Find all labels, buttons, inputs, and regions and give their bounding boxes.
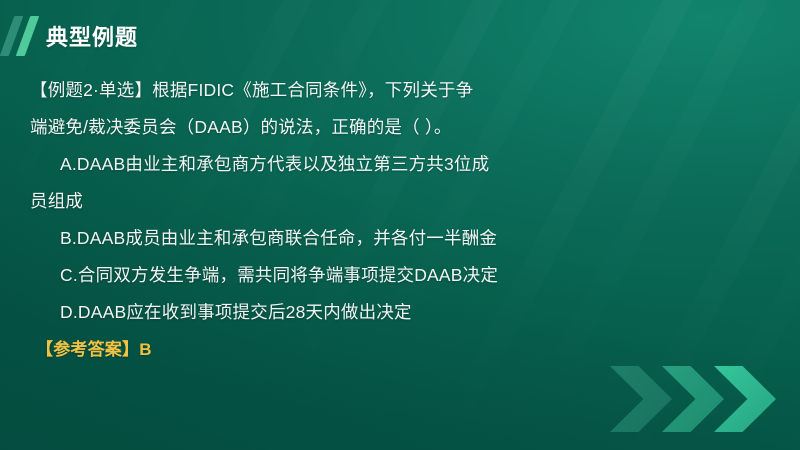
option-a-line-1[interactable]: A.DAAB由业主和承包商方代表以及独立第三方共3位成 [30,146,610,183]
double-slash-icon [4,16,42,56]
chevron-decoration [610,362,786,436]
slide-root: 典型例题 【例题2·单选】根据FIDIC《施工合同条件》，下列关于争 端避免/裁… [0,0,800,450]
question-line-2: 端避免/裁决委员会（DAAB）的说法，正确的是（ ）。 [30,109,610,146]
page-title: 典型例题 [46,20,138,52]
slide-header: 典型例题 [0,16,138,56]
question-line-1: 【例题2·单选】根据FIDIC《施工合同条件》，下列关于争 [30,72,610,109]
question-content: 【例题2·单选】根据FIDIC《施工合同条件》，下列关于争 端避免/裁决委员会（… [30,72,610,368]
reference-answer: 【参考答案】B [30,331,610,368]
chevron-right-icon-1 [610,366,672,432]
option-a-line-2[interactable]: 员组成 [30,183,610,220]
option-c[interactable]: C.合同双方发生争端，需共同将争端事项提交DAAB决定 [30,257,610,294]
option-d[interactable]: D.DAAB应在收到事项提交后28天内做出决定 [30,294,610,331]
option-b[interactable]: B.DAAB成员由业主和承包商联合任命，并各付一半酬金 [30,220,610,257]
